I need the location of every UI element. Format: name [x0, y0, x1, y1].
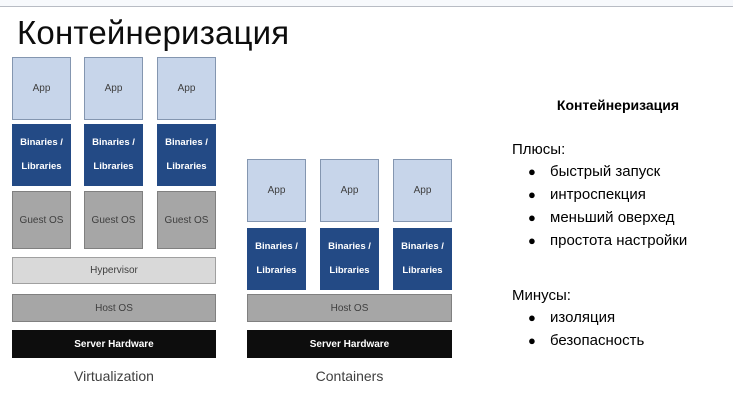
slide-canvas: Контейнеризация App App App Binaries /Li… — [0, 0, 733, 419]
virtualization-app-box-2: App — [84, 57, 143, 120]
virtualization-guest-os-box-3: Guest OS — [157, 191, 216, 249]
cons-list-item-2: ● безопасность — [512, 329, 644, 352]
pros-list-item-text-3: меньший оверхед — [550, 206, 674, 229]
panel-heading: Контейнеризация — [513, 96, 723, 115]
bullet-icon: ● — [512, 229, 550, 252]
virtualization-guest-os-label-3: Guest OS — [165, 214, 209, 227]
cons-list-item-text-2: безопасность — [550, 329, 644, 352]
containers-column-caption: Containers — [247, 367, 452, 385]
virtualization-server-hardware-bar: Server Hardware — [12, 330, 216, 358]
bullet-icon: ● — [512, 306, 550, 329]
virtualization-column-caption: Virtualization — [12, 367, 216, 385]
bullet-icon: ● — [512, 160, 550, 183]
virtualization-app-box-3: App — [157, 57, 216, 120]
virtualization-hypervisor-label: Hypervisor — [90, 265, 138, 276]
containers-binaries-box-3: Binaries /Libraries — [393, 228, 452, 290]
virtualization-host-os-bar: Host OS — [12, 294, 216, 322]
containers-app-box-1: App — [247, 159, 306, 222]
containers-binaries-box-2: Binaries /Libraries — [320, 228, 379, 290]
virtualization-binaries-line2-3: Libraries — [165, 161, 208, 173]
containers-app-label-1: App — [268, 184, 286, 197]
containers-binaries-box-1: Binaries /Libraries — [247, 228, 306, 290]
virtualization-app-label-1: App — [33, 82, 51, 95]
virtualization-hypervisor-bar: Hypervisor — [12, 257, 216, 284]
virtualization-binaries-box-1: Binaries /Libraries — [12, 124, 71, 186]
pros-list-item-text-4: простота настройки — [550, 229, 687, 252]
containers-binaries-line2-1: Libraries — [255, 265, 298, 277]
containers-binaries-line1-2: Binaries / — [328, 241, 371, 253]
virtualization-binaries-box-2: Binaries /Libraries — [84, 124, 143, 186]
containers-binaries-line1-1: Binaries / — [255, 241, 298, 253]
containers-binaries-line2-3: Libraries — [401, 265, 444, 277]
containers-binaries-line1-3: Binaries / — [401, 241, 444, 253]
pros-list-item-text-1: быстрый запуск — [550, 160, 660, 183]
virtualization-guest-os-box-2: Guest OS — [84, 191, 143, 249]
virtualization-binaries-line2-2: Libraries — [92, 161, 135, 173]
virtualization-guest-os-label-2: Guest OS — [92, 214, 136, 227]
pros-list-item-2: ● интроспекция — [512, 183, 646, 206]
pros-list-item-3: ● меньший оверхед — [512, 206, 674, 229]
virtualization-app-label-2: App — [105, 82, 123, 95]
cons-section-label: Минусы: — [512, 286, 571, 306]
virtualization-host-os-label: Host OS — [95, 303, 133, 314]
pros-section-label: Плюсы: — [512, 140, 565, 160]
virtualization-binaries-line1-1: Binaries / — [20, 137, 63, 149]
top-divider-rule — [0, 6, 733, 7]
page-title: Контейнеризация — [17, 14, 289, 52]
containers-app-box-2: App — [320, 159, 379, 222]
virtualization-server-hardware-label: Server Hardware — [74, 339, 154, 350]
virtualization-binaries-line1-3: Binaries / — [165, 137, 208, 149]
virtualization-app-box-1: App — [12, 57, 71, 120]
virtualization-guest-os-label-1: Guest OS — [20, 214, 64, 227]
pros-list-item-4: ● простота настройки — [512, 229, 687, 252]
containers-server-hardware-bar: Server Hardware — [247, 330, 452, 358]
pros-list-item-text-2: интроспекция — [550, 183, 646, 206]
containers-app-box-3: App — [393, 159, 452, 222]
virtualization-app-label-3: App — [178, 82, 196, 95]
virtualization-binaries-line2-1: Libraries — [20, 161, 63, 173]
bullet-icon: ● — [512, 183, 550, 206]
bullet-icon: ● — [512, 206, 550, 229]
containers-app-label-3: App — [414, 184, 432, 197]
containers-binaries-line2-2: Libraries — [328, 265, 371, 277]
cons-list-item-text-1: изоляция — [550, 306, 615, 329]
containers-server-hardware-label: Server Hardware — [310, 339, 390, 350]
pros-list-item-1: ● быстрый запуск — [512, 160, 660, 183]
containers-host-os-bar: Host OS — [247, 294, 452, 322]
containers-app-label-2: App — [341, 184, 359, 197]
virtualization-binaries-box-3: Binaries /Libraries — [157, 124, 216, 186]
cons-list-item-1: ● изоляция — [512, 306, 615, 329]
containers-host-os-label: Host OS — [331, 303, 369, 314]
virtualization-binaries-line1-2: Binaries / — [92, 137, 135, 149]
virtualization-guest-os-box-1: Guest OS — [12, 191, 71, 249]
bullet-icon: ● — [512, 329, 550, 352]
